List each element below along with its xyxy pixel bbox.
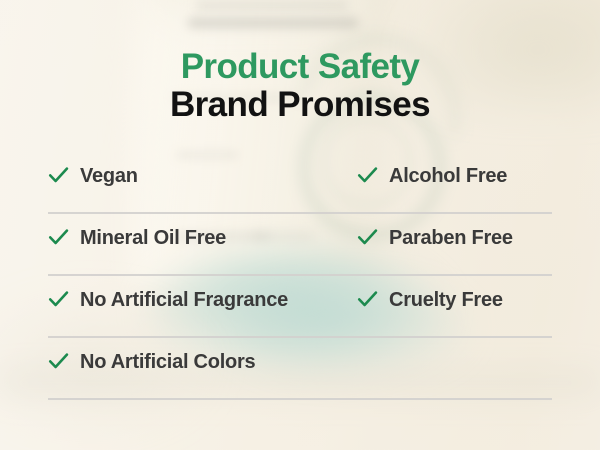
promise-list: Vegan Alcohol Free	[48, 152, 552, 400]
promise-item-mineral-oil-free: Mineral Oil Free	[48, 227, 226, 248]
promise-row: No Artificial Colors	[48, 338, 552, 400]
promise-label: Mineral Oil Free	[80, 228, 226, 248]
check-icon	[357, 289, 378, 310]
promise-row: Mineral Oil Free Paraben Free	[48, 214, 552, 276]
promise-item-alcohol-free: Alcohol Free	[357, 165, 507, 186]
card-content: Product Safety Brand Promises Vegan	[0, 0, 600, 450]
promise-item-cruelty-free: Cruelty Free	[357, 289, 503, 310]
check-icon	[357, 165, 378, 186]
promise-item-no-artificial-fragrance: No Artificial Fragrance	[48, 289, 288, 310]
check-icon	[48, 351, 69, 372]
promise-label: Paraben Free	[389, 228, 513, 248]
promise-label: No Artificial Colors	[80, 352, 255, 372]
row-divider	[48, 398, 552, 400]
page-title: Product Safety Brand Promises	[0, 48, 600, 125]
promise-label: Vegan	[80, 166, 138, 186]
title-line-main: Brand Promises	[0, 85, 600, 125]
promise-label: Alcohol Free	[389, 166, 507, 186]
promise-label: No Artificial Fragrance	[80, 290, 288, 310]
title-line-accent: Product Safety	[0, 48, 600, 85]
promise-row: No Artificial Fragrance Cruelty Free	[48, 276, 552, 338]
promise-row: Vegan Alcohol Free	[48, 152, 552, 214]
promise-item-no-artificial-colors: No Artificial Colors	[48, 351, 255, 372]
check-icon	[48, 289, 69, 310]
check-icon	[48, 227, 69, 248]
promise-label: Cruelty Free	[389, 290, 503, 310]
check-icon	[357, 227, 378, 248]
product-safety-card: Product Safety Brand Promises Vegan	[0, 0, 600, 450]
check-icon	[48, 165, 69, 186]
promise-item-vegan: Vegan	[48, 165, 138, 186]
promise-item-paraben-free: Paraben Free	[357, 227, 513, 248]
